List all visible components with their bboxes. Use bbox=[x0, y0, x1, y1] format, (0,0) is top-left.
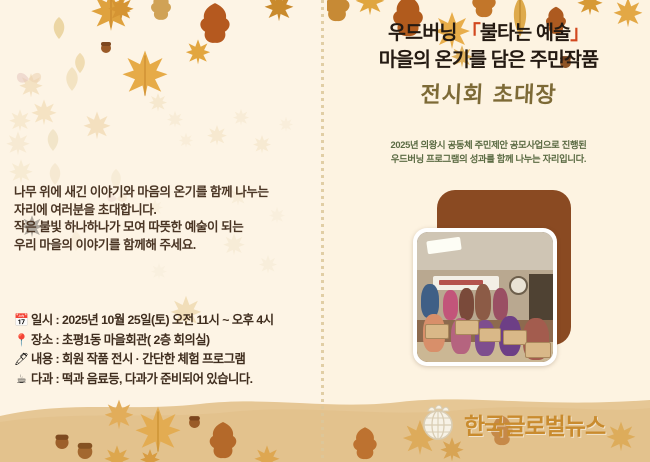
butterfly-leaf-icon bbox=[14, 68, 44, 90]
subtitle-line-1: 2025년 의왕시 공동체 주민제안 공모사업으로 진행된 bbox=[327, 138, 650, 152]
leaf-icon bbox=[48, 16, 70, 40]
program-photo bbox=[417, 232, 553, 362]
invitation-body: 나무 위에 새긴 이야기와 마음의 온기를 함께 나누는 자리에 여러분을 초대… bbox=[14, 184, 310, 254]
leaf-icon bbox=[8, 158, 34, 184]
photo-craft-board bbox=[525, 342, 551, 358]
photo-person bbox=[421, 284, 439, 318]
photo-wall-clock bbox=[509, 276, 528, 295]
photo-person bbox=[493, 288, 508, 320]
photo-person bbox=[459, 288, 474, 320]
photo-craft-board bbox=[503, 330, 527, 345]
oak-leaf-icon bbox=[469, 0, 499, 20]
leaf-icon bbox=[60, 66, 84, 92]
photo-craft-board bbox=[479, 328, 501, 342]
invitation-line-1: 나무 위에 새긴 이야기와 마음의 온기를 함께 나누는 bbox=[14, 184, 310, 202]
leaf-icon bbox=[178, 132, 194, 148]
title-line-1: 우드버닝 「불타는 예술」 bbox=[327, 20, 650, 47]
news-logo-text: 한국글로벌뉴스 bbox=[464, 407, 605, 441]
acorn-icon bbox=[100, 40, 112, 53]
invitation-line-3: 작은 불빛 하나하나가 모여 따뜻한 예술이 되는 bbox=[14, 219, 310, 237]
leaf-icon bbox=[278, 116, 294, 132]
detail-text-location: 장소 : 초평1동 마을회관( 2층 회의실) bbox=[31, 332, 210, 348]
leaf-icon bbox=[258, 254, 278, 274]
leaf-icon bbox=[82, 110, 112, 140]
leaf-icon bbox=[232, 108, 250, 126]
photo-person bbox=[475, 284, 491, 320]
pen-icon: 🖊 bbox=[12, 351, 31, 367]
title-highlight: 불타는 예술 bbox=[480, 22, 570, 44]
photo-doorway bbox=[529, 274, 553, 320]
poster-title-block: 우드버닝 「불타는 예술」 마을의 온기를 담은 주민작품 전시회 초대장 bbox=[327, 20, 650, 109]
location-pin-icon: 📍 bbox=[12, 332, 31, 348]
title-line-2: 마을의 온기를 담은 주민작품 bbox=[327, 47, 650, 74]
news-logo[interactable]: 한국글로벌뉴스 bbox=[418, 404, 605, 444]
event-details-list: 📅 일시 : 2025년 10월 25일(토) 오전 11시 ~ 오후 4시 📍… bbox=[12, 312, 317, 390]
photo-person bbox=[443, 290, 458, 320]
leaf-icon bbox=[166, 110, 184, 128]
title-script: 전시회 초대장 bbox=[327, 82, 650, 109]
leaf-icon bbox=[150, 262, 168, 280]
subtitle-line-2: 우드버닝 프로그램의 성과를 함께 나누는 자리입니다. bbox=[327, 152, 650, 166]
leaf-icon bbox=[5, 130, 31, 156]
photo-craft-board bbox=[455, 320, 479, 335]
globe-icon bbox=[418, 404, 458, 444]
oak-leaf-icon bbox=[196, 2, 234, 46]
maple-leaf-icon bbox=[106, 0, 136, 22]
poster-subtitle: 2025년 의왕시 공동체 주민제안 공모사업으로 진행된 우드버닝 프로그램의… bbox=[327, 138, 650, 166]
leaf-icon bbox=[18, 72, 44, 98]
bracket-close: 」 bbox=[570, 22, 589, 44]
detail-row-content: 🖊 내용 : 회원 작품 전시 · 간단한 체험 프로그램 bbox=[12, 351, 317, 367]
leaf-icon bbox=[30, 98, 58, 126]
detail-text-date: 일시 : 2025년 10월 25일(토) 오전 11시 ~ 오후 4시 bbox=[31, 312, 274, 328]
leaf-icon bbox=[206, 124, 228, 146]
leaf-icon bbox=[252, 134, 272, 154]
invitation-poster: 나무 위에 새긴 이야기와 마음의 온기를 함께 나누는 자리에 여러분을 초대… bbox=[0, 0, 650, 462]
maple-leaf-icon bbox=[262, 0, 296, 22]
maple-leaf-icon bbox=[184, 38, 212, 65]
oak-leaf-icon bbox=[148, 0, 174, 22]
maple-leaf-icon bbox=[353, 0, 387, 16]
title-prefix: 우드버닝 bbox=[388, 22, 461, 44]
tea-cup-icon: ☕ bbox=[12, 371, 31, 387]
calendar-icon: 📅 bbox=[12, 312, 31, 328]
leaf-icon bbox=[44, 162, 66, 186]
maple-leaf-icon bbox=[88, 0, 134, 32]
leaf-icon bbox=[70, 52, 90, 74]
detail-row-refreshments: ☕ 다과 : 떡과 음료등, 다과가 준비되어 있습니다. bbox=[12, 371, 317, 387]
detail-text-content: 내용 : 회원 작품 전시 · 간단한 체험 프로그램 bbox=[31, 351, 245, 367]
photo-craft-board bbox=[425, 324, 449, 339]
leaf-icon bbox=[148, 92, 168, 112]
photo-ceiling bbox=[417, 232, 553, 274]
photo-frame bbox=[413, 228, 557, 366]
leaf-icon bbox=[42, 128, 64, 152]
leaf-icon bbox=[8, 108, 32, 132]
detail-text-refreshments: 다과 : 떡과 음료등, 다과가 준비되어 있습니다. bbox=[31, 371, 253, 387]
detail-row-location: 📍 장소 : 초평1동 마을회관( 2층 회의실) bbox=[12, 332, 317, 348]
invitation-line-4: 우리 마을의 이야기를 함께해 주세요. bbox=[14, 237, 310, 255]
invitation-line-2: 자리에 여러분을 초대합니다. bbox=[14, 202, 310, 220]
bracket-open: 「 bbox=[461, 22, 480, 44]
center-fold-line bbox=[321, 0, 324, 462]
detail-row-date: 📅 일시 : 2025년 10월 25일(토) 오전 11시 ~ 오후 4시 bbox=[12, 312, 317, 328]
maple-leaf-icon bbox=[118, 48, 172, 98]
maple-leaf-icon bbox=[575, 0, 605, 16]
